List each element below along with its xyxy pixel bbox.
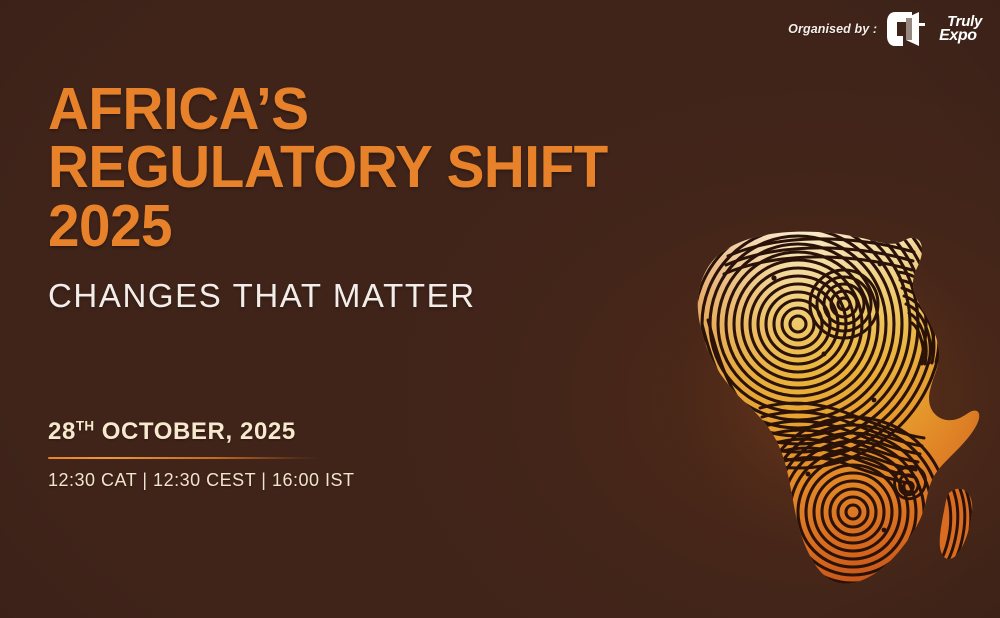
headline-block: AFRICA’S REGULATORY SHIFT 2025 CHANGES T… [48, 80, 708, 315]
event-month-year: OCTOBER, 2025 [94, 418, 295, 445]
date-divider-rule [48, 457, 320, 459]
truly-expo-g-mark-icon [886, 9, 942, 49]
madagascar-island-shape [928, 477, 988, 572]
headline-line-1: AFRICA’S [48, 80, 682, 138]
event-banner: Organised by : Truly Expo AFRICA’S REGUL… [0, 0, 1000, 618]
africa-map-svg [648, 212, 1000, 608]
brand-name-line-2: Expo [939, 29, 982, 44]
truly-expo-logo[interactable]: Truly Expo [886, 9, 982, 49]
headline-subtitle: CHANGES THAT MATTER [48, 277, 708, 315]
event-day: 28 [48, 418, 76, 445]
event-date-block: 28TH OCTOBER, 2025 12:30 CAT | 12:30 CES… [48, 418, 388, 491]
event-day-suffix: TH [76, 419, 95, 434]
headline-line-3-year: 2025 [48, 197, 682, 255]
africa-fingerprint-map [648, 212, 1000, 608]
organiser-credit: Organised by : Truly Expo [788, 8, 982, 50]
headline-line-2: REGULATORY SHIFT [48, 138, 682, 196]
organiser-label: Organised by : [788, 22, 877, 36]
event-date: 28TH OCTOBER, 2025 [48, 418, 388, 446]
event-timezones: 12:30 CAT | 12:30 CEST | 16:00 IST [48, 470, 388, 491]
